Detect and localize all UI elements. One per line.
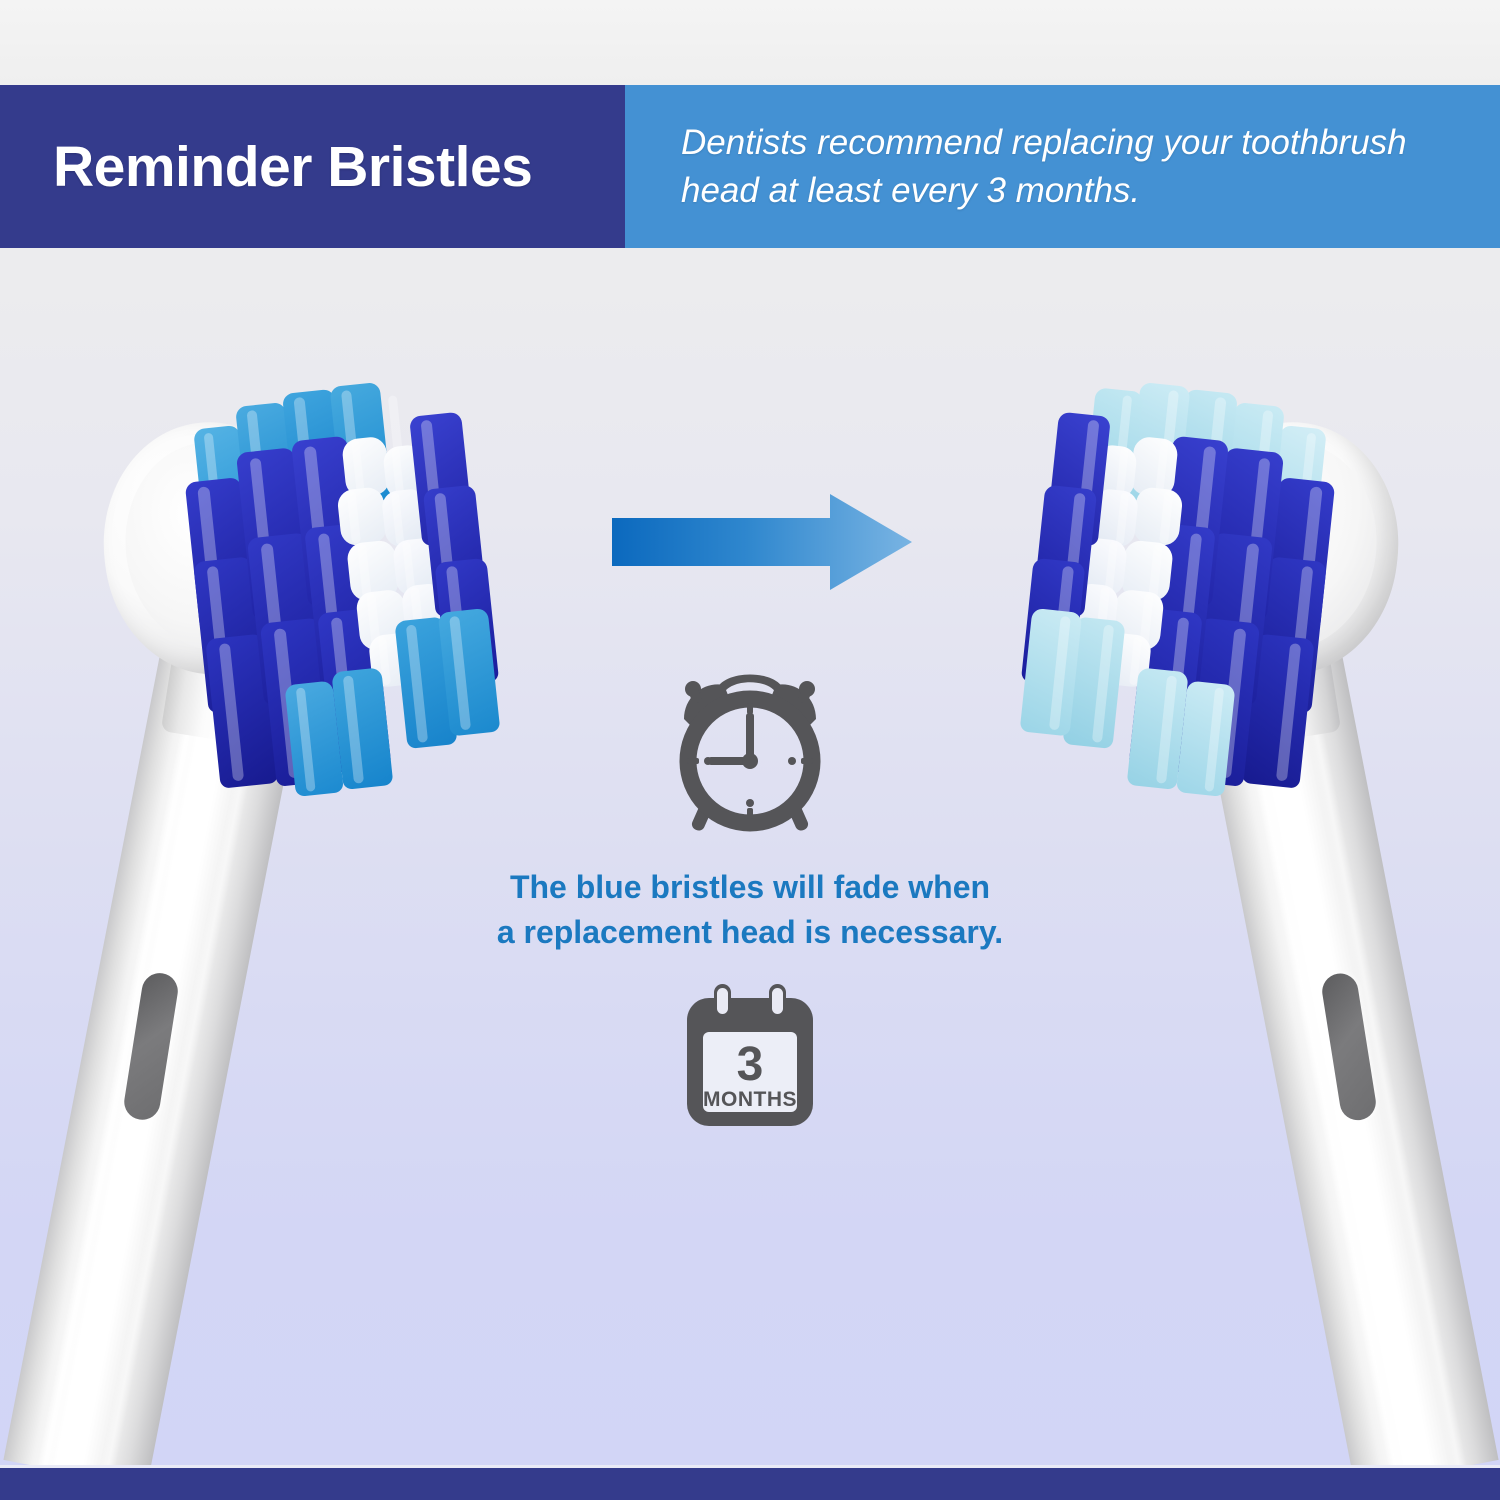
center-info-column: The blue bristles will fade when a repla… <box>470 655 1030 1132</box>
infographic-canvas: Reminder Bristles Dentists recommend rep… <box>0 0 1500 1500</box>
banner-subtitle-panel: Dentists recommend replacing your toothb… <box>625 85 1500 248</box>
bottom-bar <box>0 1468 1500 1500</box>
page-title: Reminder Bristles <box>0 134 532 200</box>
calendar-svg: 3 MONTHS <box>681 984 819 1132</box>
bristle-white <box>1132 486 1184 547</box>
fade-message-line-1: The blue bristles will fade when <box>497 865 1003 910</box>
bristle-white <box>336 486 388 547</box>
alarm-clock-icon <box>662 655 838 835</box>
banner-subtitle-line-2: head at least every 3 months. <box>681 167 1472 215</box>
right-bristle-field <box>974 360 1406 730</box>
calendar-unit: MONTHS <box>703 1088 797 1111</box>
fade-message: The blue bristles will fade when a repla… <box>497 865 1003 956</box>
top-strip <box>0 0 1500 85</box>
calendar-icon: 3 MONTHS <box>681 984 819 1132</box>
banner-title-panel: Reminder Bristles <box>0 85 625 248</box>
alarm-clock-svg <box>662 655 838 835</box>
banner-subtitle-line-1: Dentists recommend replacing your toothb… <box>681 119 1472 167</box>
right-arrow-svg <box>612 492 912 592</box>
calendar-number: 3 <box>737 1038 764 1091</box>
header-banner: Reminder Bristles Dentists recommend rep… <box>0 85 1500 248</box>
fade-message-line-2: a replacement head is necessary. <box>497 910 1003 955</box>
right-arrow-icon <box>612 492 912 592</box>
